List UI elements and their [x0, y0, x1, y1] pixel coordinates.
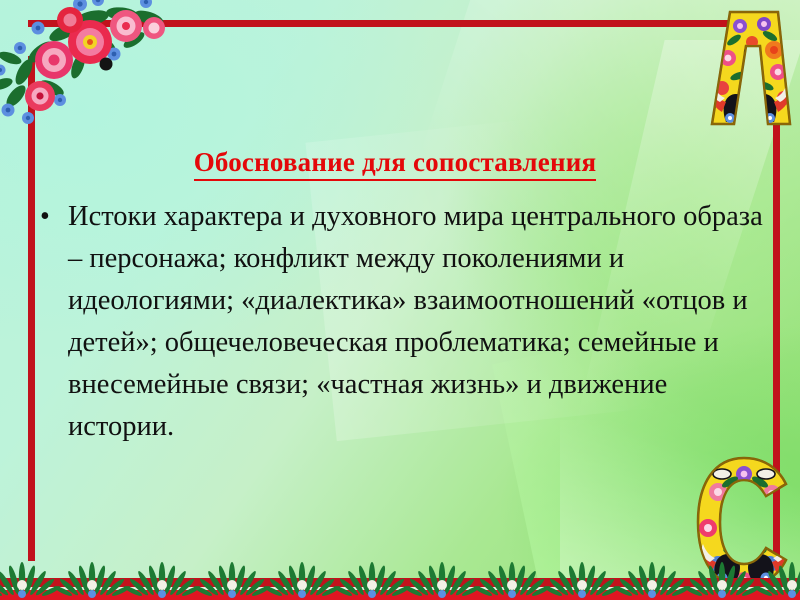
slide-title-text: Обоснование для сопоставления [194, 147, 597, 181]
bullet-item: • Истоки характера и духовного мира цент… [36, 196, 776, 448]
slide-canvas: Обоснование для сопоставления • Истоки х… [0, 0, 800, 600]
bottom-border-ornament [0, 538, 800, 600]
slide-bullet-list: • Истоки характера и духовного мира цент… [36, 196, 776, 448]
bullet-dot-icon: • [40, 196, 50, 238]
ornamental-letter-top [704, 2, 796, 134]
bullet-item-text: Истоки характера и духовного мира центра… [68, 201, 763, 442]
floral-corner-icon [0, 0, 174, 132]
slide-title: Обоснование для сопоставления [35, 148, 755, 178]
